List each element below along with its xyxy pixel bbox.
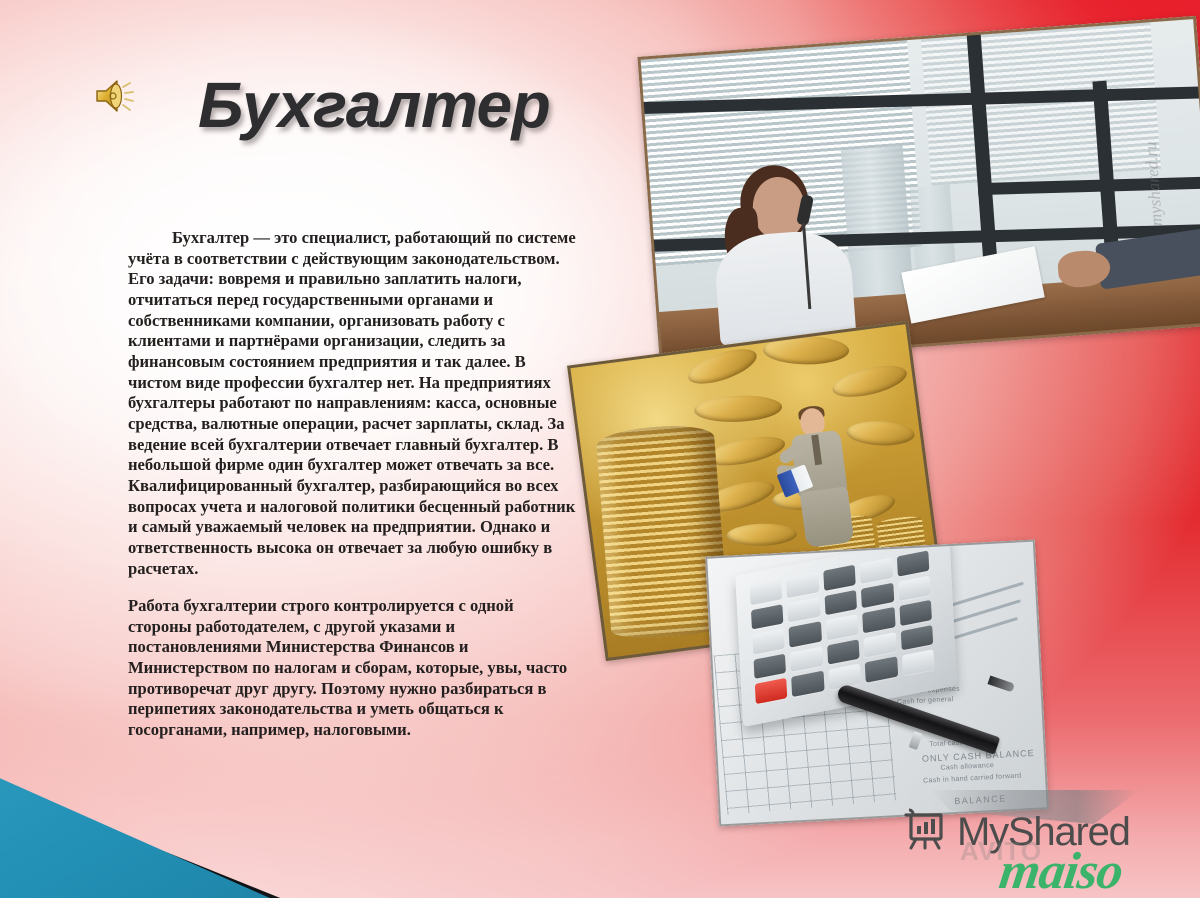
calculator-key — [827, 639, 860, 665]
calculator-key — [790, 646, 823, 672]
calculator-key — [862, 607, 895, 633]
businessman-legs — [800, 486, 855, 548]
office-scene: myshared.ru — [637, 16, 1200, 366]
calculator-key — [792, 671, 825, 697]
calculator-key — [750, 579, 783, 605]
calculator-key — [860, 558, 893, 584]
calculator-key — [754, 653, 787, 679]
calculator-key — [899, 600, 932, 626]
paragraph-3: Работа бухгалтерии строго контролируется… — [128, 596, 580, 741]
page-title: Бухгалтер — [198, 68, 550, 142]
paragraph-1: Бухгалтер — это специалист, работающий п… — [128, 228, 580, 476]
calculator-key — [751, 604, 784, 630]
calculator-key — [789, 621, 822, 647]
calculator-key — [826, 614, 859, 640]
speaker-icon[interactable] — [93, 74, 139, 118]
calculator-keypad — [750, 550, 935, 704]
slide-body-text: Бухгалтер — это специалист, работающий п… — [128, 228, 580, 741]
calculator-key — [902, 650, 935, 676]
presentation-slide: Бухгалтер Бухгалтер — это специалист, ра… — [0, 0, 1200, 898]
calculator-key — [864, 632, 897, 658]
calculator-ledger-scene: Paid into bank Cash for expenses Cash fo… — [705, 540, 1049, 827]
calculator-key — [865, 657, 898, 683]
paragraph-2: Квалифицированный бухгалтер, разбирающий… — [128, 476, 580, 579]
teal-corner-decoration — [0, 720, 310, 898]
calculator-key — [861, 582, 894, 608]
calculator-key — [896, 550, 929, 576]
teal-wedge-face — [0, 720, 310, 898]
presentation-board-icon — [902, 806, 948, 857]
calculator-key — [824, 589, 857, 615]
calculator-ledger-photo: Paid into bank Cash for expenses Cash fo… — [705, 540, 1049, 827]
calculator-key — [823, 565, 856, 591]
office-woman-phone-photo: myshared.ru — [637, 16, 1200, 366]
calculator-key-red — [755, 678, 788, 704]
calculator-key — [786, 572, 819, 598]
calculator-key — [898, 575, 931, 601]
maiso-watermark: maiso — [996, 842, 1126, 898]
calculator-key — [788, 597, 821, 623]
calculator-key — [900, 625, 933, 651]
calculator-key — [752, 629, 785, 655]
